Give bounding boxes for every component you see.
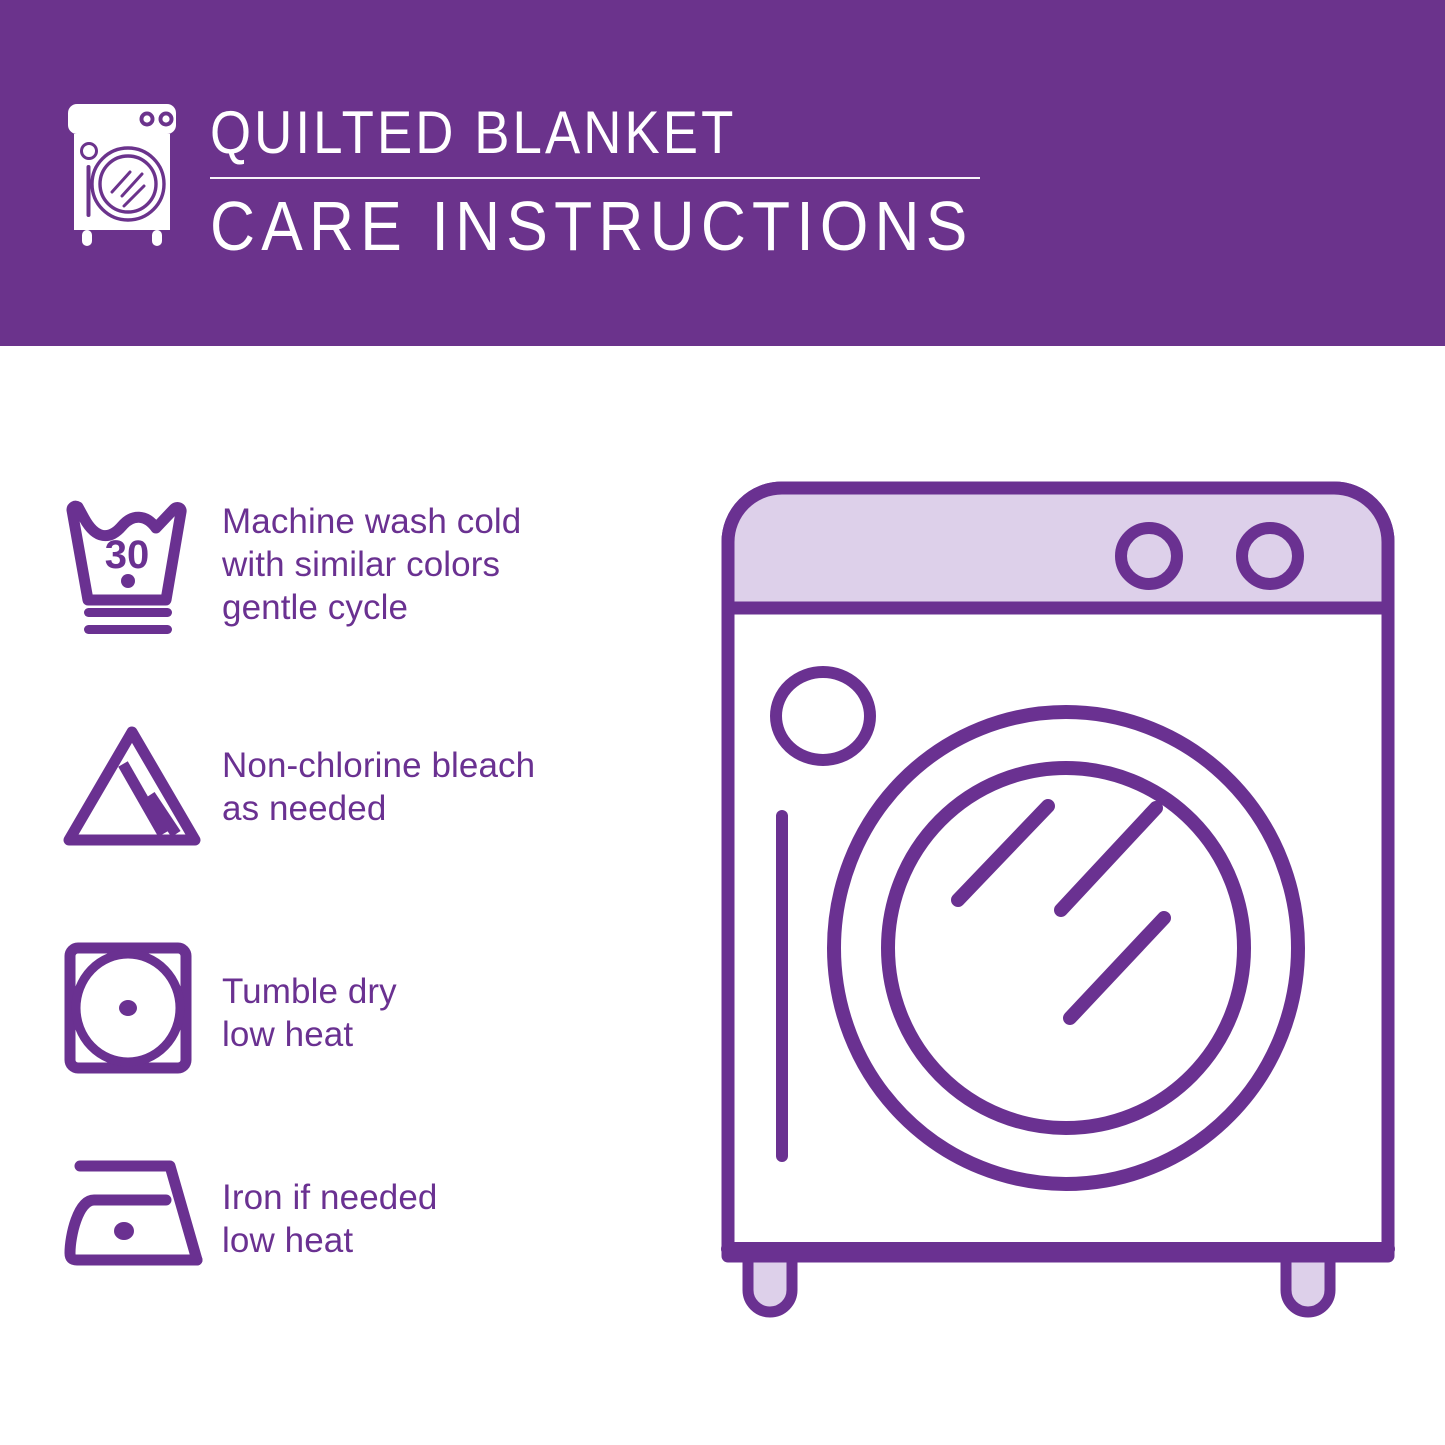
page-title-primary: QUILTED BLANKET xyxy=(210,102,914,164)
washing-machine-illustration xyxy=(718,478,1398,1368)
care-text-line: low heat xyxy=(222,1219,437,1262)
care-item-iron: Iron if needed low heat xyxy=(62,1152,702,1272)
care-text-line: Tumble dry xyxy=(222,970,397,1013)
wash-temp-label: 30 xyxy=(105,533,150,577)
washer-knob-right xyxy=(1242,528,1298,584)
washing-machine-icon xyxy=(62,100,182,250)
care-item-wash-label: Machine wash cold with similar colors ge… xyxy=(222,496,521,629)
washer-handle xyxy=(776,810,788,1162)
care-text-line: Non-chlorine bleach xyxy=(222,744,535,787)
page-title-secondary: CARE INSTRUCTIONS xyxy=(210,190,922,262)
header-band: QUILTED BLANKET CARE INSTRUCTIONS xyxy=(0,0,1445,346)
care-item-tumble-dry: Tumble dry low heat xyxy=(62,940,702,1076)
care-text-line: Iron if needed xyxy=(222,1176,437,1219)
iron-low-heat-icon xyxy=(62,1152,222,1272)
care-text-line: gentle cycle xyxy=(222,586,521,629)
care-text-line: as needed xyxy=(222,787,535,830)
wash-tub-30-gentle-icon: 30 xyxy=(62,496,222,644)
washer-knob-left xyxy=(1121,528,1177,584)
care-text-line: Machine wash cold xyxy=(222,500,521,543)
care-item-tumble-dry-label: Tumble dry low heat xyxy=(222,940,397,1056)
triangle-non-chlorine-bleach-icon xyxy=(62,722,222,852)
care-text-line: low heat xyxy=(222,1013,397,1056)
header-title-group: QUILTED BLANKET CARE INSTRUCTIONS xyxy=(210,102,1010,262)
tumble-dry-low-heat-icon xyxy=(62,940,222,1076)
care-item-iron-label: Iron if needed low heat xyxy=(222,1152,437,1262)
care-item-bleach-label: Non-chlorine bleach as needed xyxy=(222,722,535,830)
care-item-bleach: Non-chlorine bleach as needed xyxy=(62,722,702,852)
care-item-wash: 30 Machine wash cold with similar colors… xyxy=(62,496,702,644)
care-instructions-infographic: QUILTED BLANKET CARE INSTRUCTIONS 30 Mac… xyxy=(0,0,1445,1445)
title-divider xyxy=(210,177,980,179)
care-text-line: with similar colors xyxy=(222,543,521,586)
